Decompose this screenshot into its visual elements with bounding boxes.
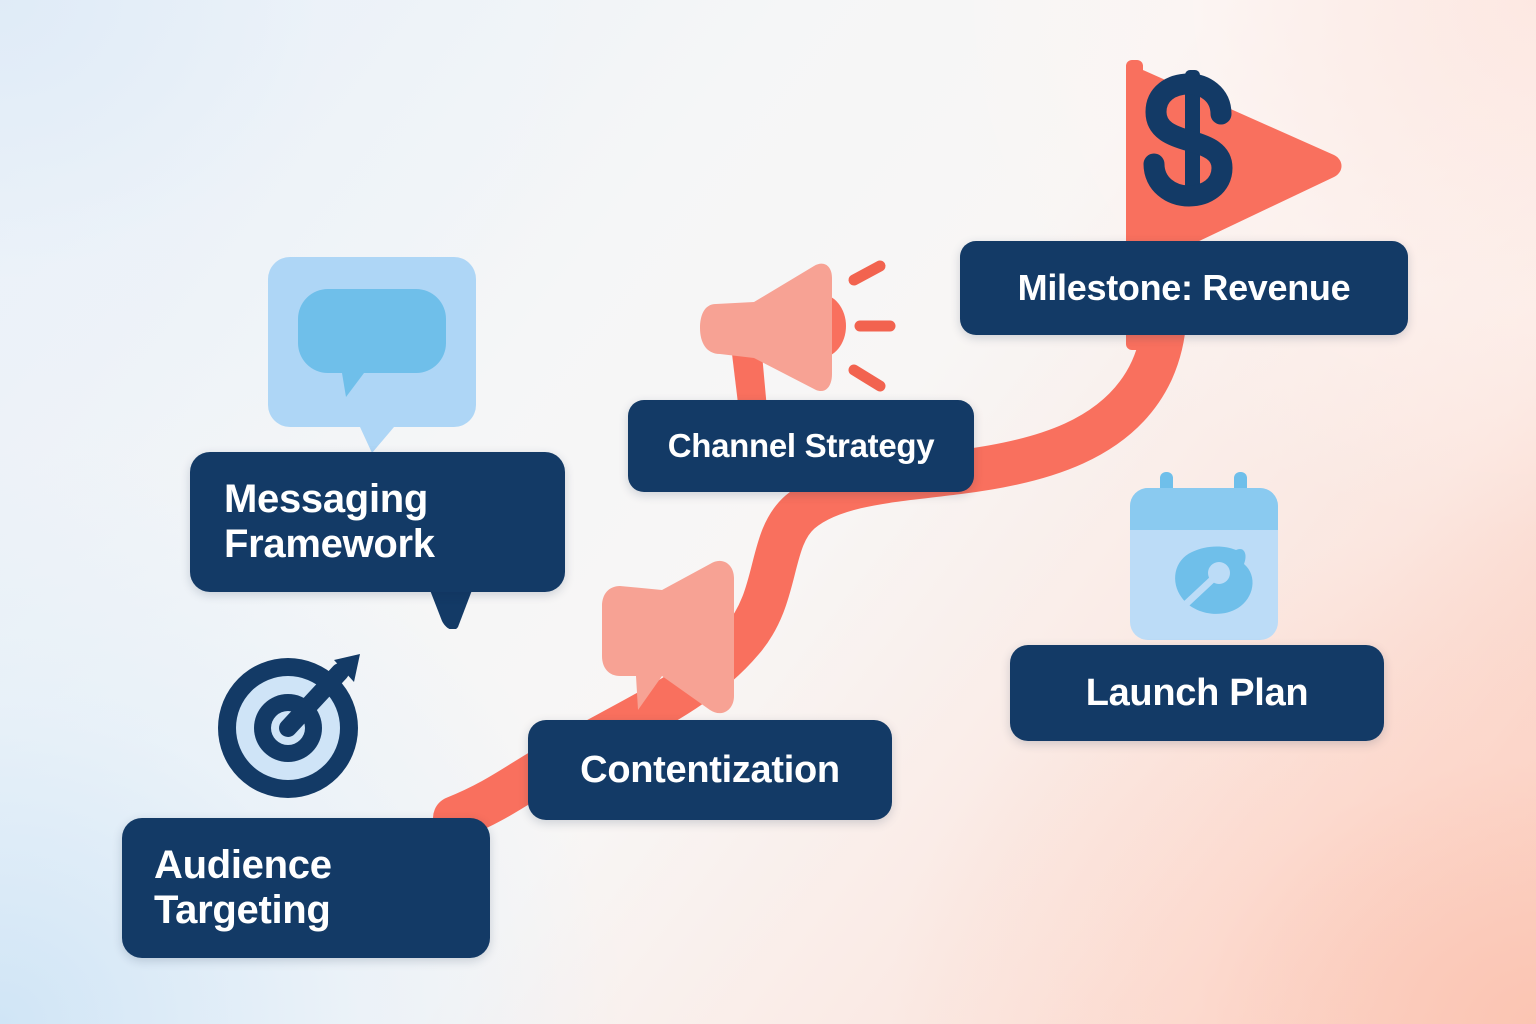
node-label: Milestone: Revenue [984,268,1384,308]
calendar-icon [1124,472,1284,644]
node-messaging-framework[interactable]: Messaging Framework [190,452,565,592]
megaphone-icon [600,560,765,718]
target-icon [212,642,374,804]
node-label: Contentization [554,749,866,792]
node-label: Messaging Framework [224,477,539,567]
node-audience-targeting[interactable]: Audience Targeting [122,818,490,958]
node-channel-strategy[interactable]: Channel Strategy [628,400,974,492]
speech-bubble-icon [268,257,476,453]
node-label: Launch Plan [1036,672,1358,715]
node-contentization[interactable]: Contentization [528,720,892,820]
node-launch-plan[interactable]: Launch Plan [1010,645,1384,741]
megaphone-icon [698,262,896,422]
node-milestone-revenue[interactable]: Milestone: Revenue [960,241,1408,335]
node-label: Audience Targeting [154,843,464,933]
node-label: Channel Strategy [650,428,952,465]
diagram-canvas: Messaging Framework Audience Targeting C… [0,0,1536,1024]
